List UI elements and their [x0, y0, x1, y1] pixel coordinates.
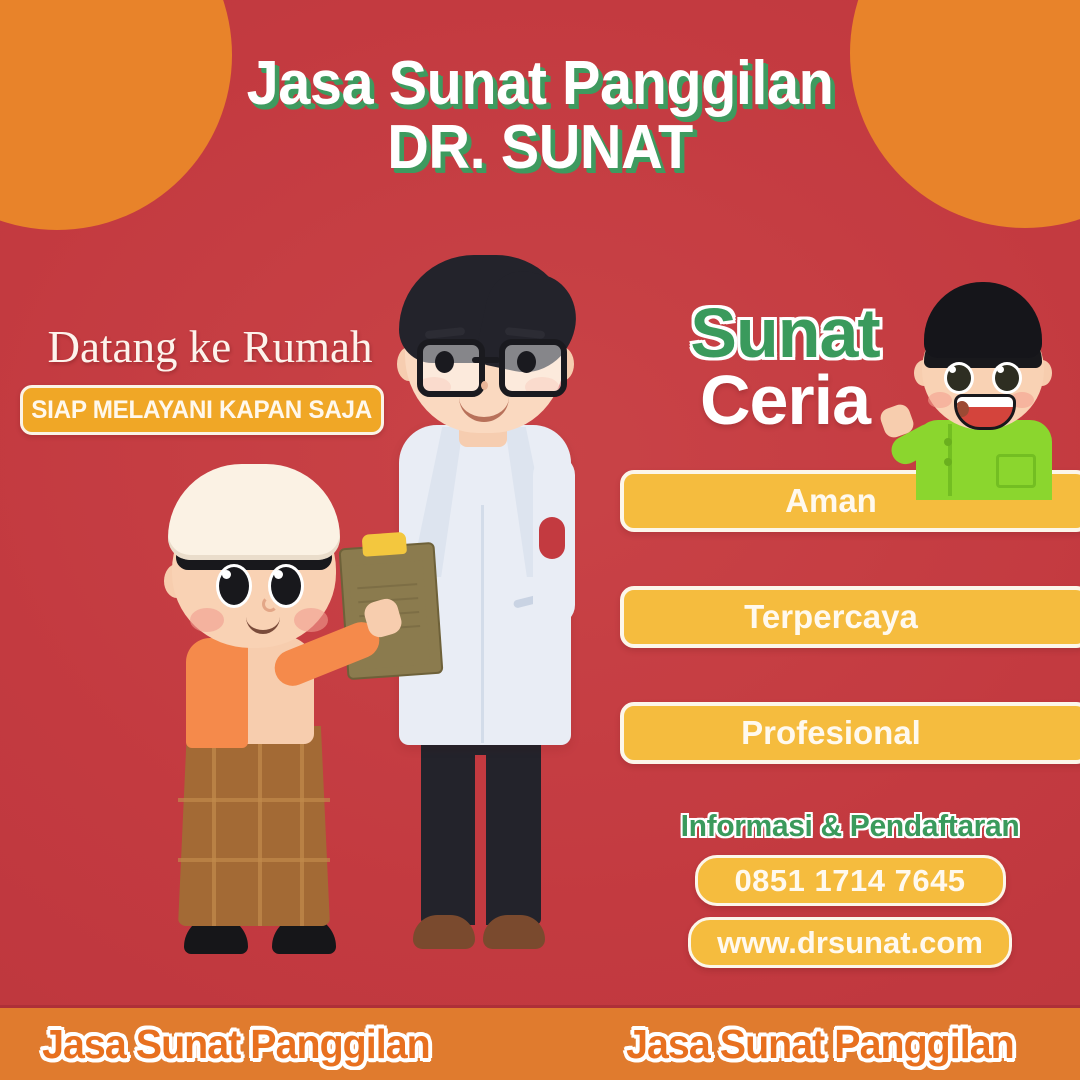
- footer-text-left: Jasa Sunat Panggilan: [42, 1021, 430, 1068]
- mascot-songkok-cap: [924, 282, 1042, 358]
- phone-number-button[interactable]: 0851 1714 7645: [695, 855, 1006, 906]
- mascot-shirt-button: [944, 438, 952, 446]
- feature-label: Terpercaya: [744, 598, 918, 636]
- doctor-shoe-left: [413, 915, 475, 949]
- doctor-arm-gap: [539, 517, 565, 559]
- mascot-cheek-left: [928, 392, 952, 408]
- feature-badge-profesional: Profesional: [620, 702, 1080, 764]
- boy-nose: [262, 596, 278, 612]
- boy-sarong: [178, 726, 330, 926]
- feature-label: Profesional: [741, 714, 921, 752]
- boy-illustration: [150, 468, 400, 968]
- boy-eye-left: [216, 564, 252, 608]
- contact-heading: Informasi & Pendaftaran: [627, 808, 1073, 844]
- footer-text-right: Jasa Sunat Panggilan: [626, 1021, 1014, 1068]
- contact-block: Informasi & Pendaftaran 0851 1714 7645 w…: [620, 808, 1080, 968]
- sarong-stripe-horizontal: [178, 798, 330, 802]
- mascot-shirt-button: [944, 458, 952, 466]
- mascot-tongue: [955, 401, 969, 417]
- sarong-stripe-vertical: [300, 726, 304, 926]
- boy-cheek-left: [190, 608, 224, 632]
- boy-cheek-right: [294, 608, 328, 632]
- corner-decoration-top-left: [0, 0, 232, 230]
- feature-label: Aman: [785, 482, 877, 520]
- feature-badge-terpercaya: Terpercaya: [620, 586, 1080, 648]
- sarong-stripe-vertical: [212, 726, 216, 926]
- doctor-nose: [481, 381, 488, 390]
- doctor-shoe-right: [483, 915, 545, 949]
- doctor-coat-seam: [481, 505, 484, 743]
- feature-badge-list: Aman Terpercaya Profesional: [620, 470, 1080, 818]
- sarong-stripe-horizontal: [178, 858, 330, 862]
- boy-shawl: [186, 638, 248, 748]
- boy-eye-shine-right: [274, 570, 283, 579]
- mascot-shirt-pocket: [996, 454, 1036, 488]
- phone-number-label: 0851 1714 7645: [734, 863, 965, 899]
- website-button[interactable]: www.drsunat.com: [688, 917, 1012, 968]
- availability-badge-label: SIAP MELAYANI KAPAN SAJA: [32, 396, 373, 425]
- doctor-glasses-bridge: [472, 357, 500, 363]
- poster-canvas: Jasa Sunat Panggilan DR. SUNAT Datang ke…: [0, 0, 1080, 1080]
- doctor-eye-left: [435, 351, 454, 373]
- website-label: www.drsunat.com: [717, 925, 983, 961]
- availability-badge: SIAP MELAYANI KAPAN SAJA: [20, 385, 384, 435]
- sarong-stripe-vertical: [258, 726, 262, 926]
- boy-kopiah-cap: [168, 464, 340, 560]
- doctor-leg-gap: [475, 755, 486, 925]
- corner-decoration-top-right: [850, 0, 1080, 228]
- mascot-eye-shine-left: [949, 366, 956, 373]
- doctor-eye-right: [517, 351, 536, 373]
- home-visit-tagline: Datang ke Rumah: [20, 325, 400, 370]
- mascot-eye-shine-right: [997, 366, 1004, 373]
- boy-eye-shine-left: [222, 570, 231, 579]
- mascot-illustration: [888, 288, 1078, 488]
- poster-footer: Jasa Sunat Panggilan Jasa Sunat Panggila…: [0, 1005, 1080, 1080]
